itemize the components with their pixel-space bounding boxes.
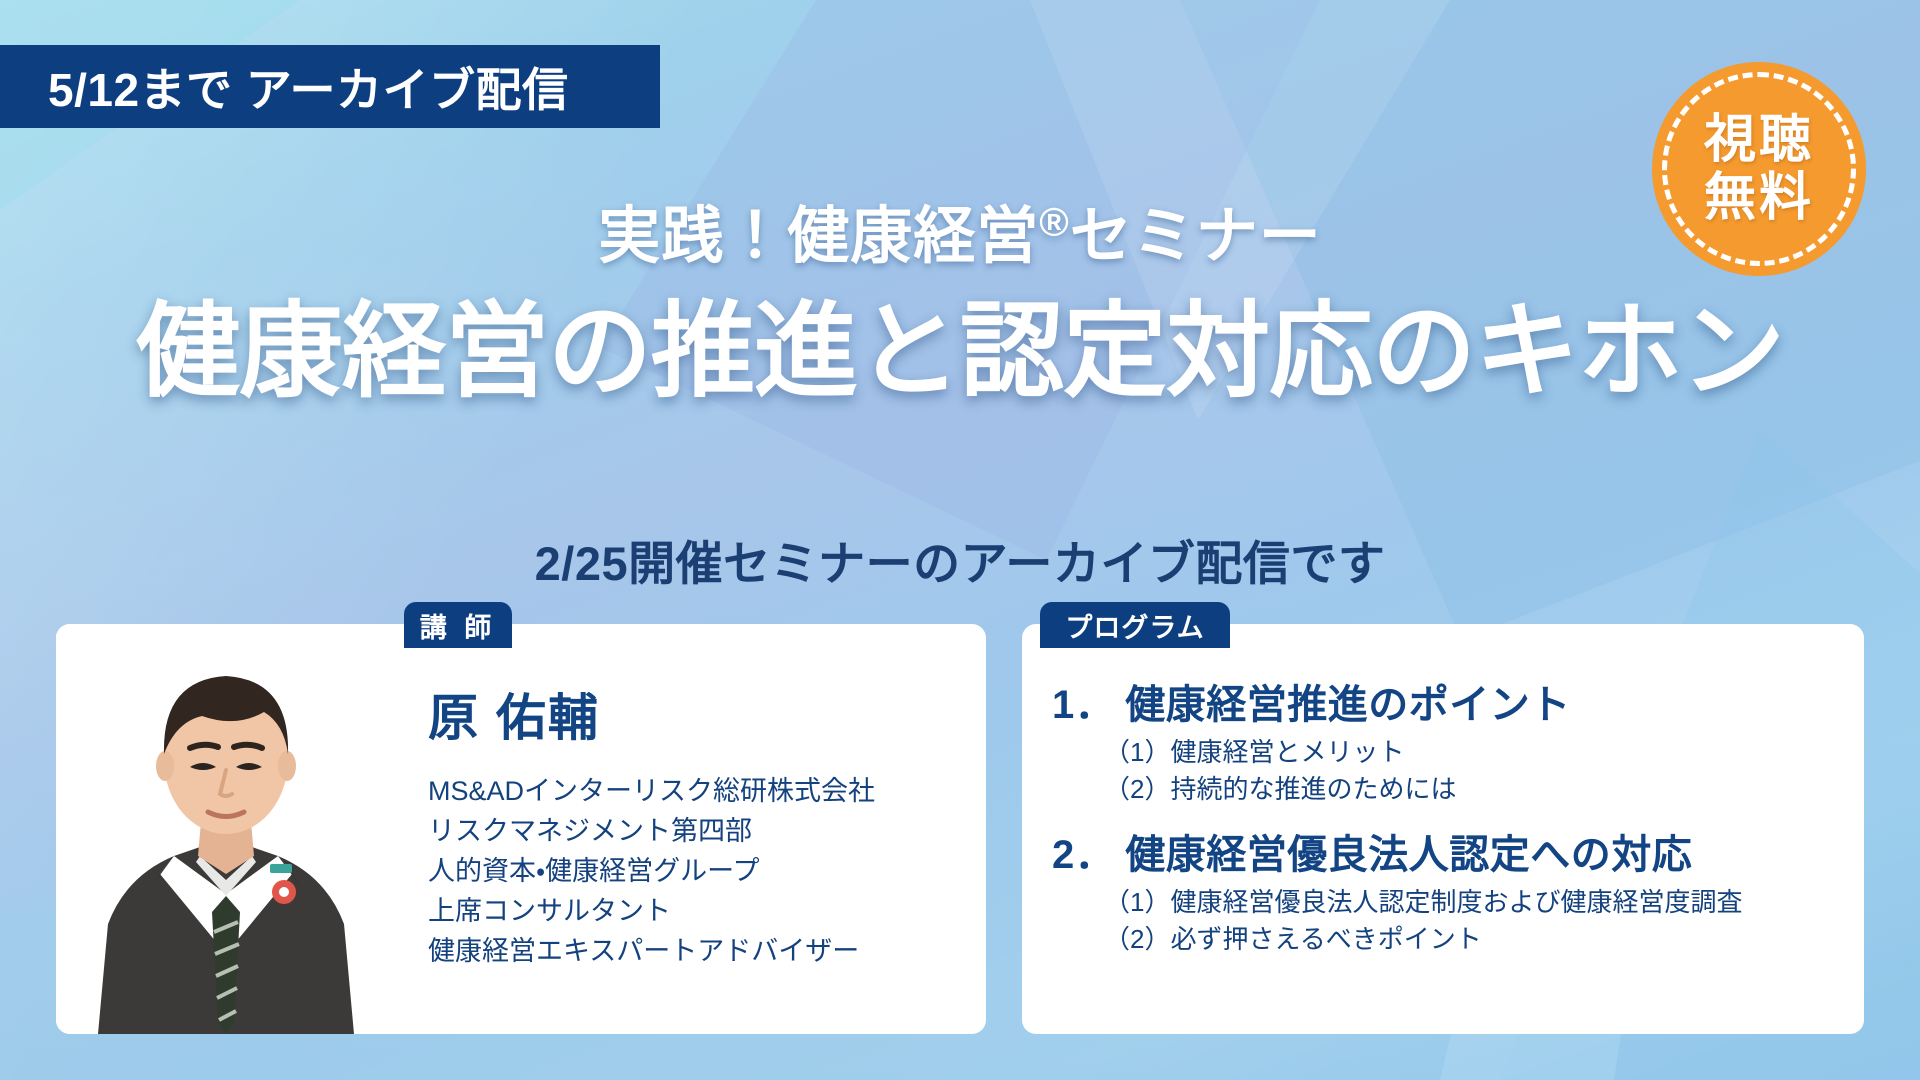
archive-ribbon: 5/12まで アーカイブ配信: [0, 45, 660, 128]
program-item-heading: 1． 健康経営推進のポイント: [1052, 672, 1844, 730]
program-item: 1． 健康経営推進のポイント （1） 健康経営とメリット （2） 持続的な推進の…: [1052, 672, 1844, 808]
program-subitem: （2） 必ず押さえるべきポイント: [1104, 921, 1844, 958]
registered-mark: ®: [1039, 200, 1069, 244]
program-list: 1． 健康経営推進のポイント （1） 健康経営とメリット （2） 持続的な推進の…: [1052, 672, 1844, 972]
program-subitem-text: 健康経営とメリット: [1170, 734, 1404, 771]
program-subitem-text: 健康経営優良法人認定制度および健康経営度調査: [1170, 884, 1742, 921]
speaker-portrait-illustration: [56, 624, 396, 1034]
program-subitem: （1） 健康経営優良法人認定制度および健康経営度調査: [1104, 884, 1844, 921]
program-subitem: （2） 持続的な推進のためには: [1104, 771, 1844, 808]
program-subitem-text: 持続的な推進のためには: [1170, 771, 1456, 808]
program-item-title: 健康経営推進のポイント: [1125, 672, 1571, 730]
subtitle-main: 実践！健康経営: [598, 202, 1039, 271]
page-title: 健康経営の推進と認定対応のキホン: [0, 266, 1920, 417]
speaker-photo: [56, 624, 396, 1034]
program-subitem: （1） 健康経営とメリット: [1104, 734, 1844, 771]
program-card: プログラム 1． 健康経営推進のポイント （1） 健康経営とメリット （2） 持…: [1022, 624, 1864, 1034]
program-item-heading: 2． 健康経営優良法人認定への対応: [1052, 822, 1844, 880]
program-subitem-mark: （1）: [1104, 884, 1170, 921]
program-subitem-text: 必ず押さえるべきポイント: [1170, 921, 1481, 958]
affiliation-line: リスクマネジメント第四部: [428, 812, 964, 852]
program-subitems: （1） 健康経営とメリット （2） 持続的な推進のためには: [1104, 734, 1844, 808]
speaker-affiliation: MS&ADインターリスク総研株式会社 リスクマネジメント第四部 人的資本・健康経…: [428, 772, 964, 972]
program-subitem-mark: （2）: [1104, 921, 1170, 958]
seminar-series-subtitle: 実践！健康経営®セミナー: [0, 185, 1920, 275]
badge-line-1: 視聴: [1704, 111, 1814, 169]
program-subitem-mark: （1）: [1104, 734, 1170, 771]
program-tab-label: プログラム: [1040, 602, 1230, 648]
subtitle-tail: セミナー: [1070, 202, 1322, 271]
program-item-number: 1．: [1052, 672, 1115, 730]
affiliation-line: 健康経営エキスパートアドバイザー: [428, 932, 964, 972]
program-item: 2． 健康経営優良法人認定への対応 （1） 健康経営優良法人認定制度および健康経…: [1052, 822, 1844, 958]
program-subitems: （1） 健康経営優良法人認定制度および健康経営度調査 （2） 必ず押さえるべきポ…: [1104, 884, 1844, 958]
affiliation-line: 人的資本・健康経営グループ: [428, 852, 964, 892]
affiliation-line: MS&ADインターリスク総研株式会社: [428, 772, 964, 812]
program-subitem-mark: （2）: [1104, 771, 1170, 808]
archive-ribbon-label: 5/12まで アーカイブ配信: [48, 54, 569, 120]
speaker-card: 講 師: [56, 624, 986, 1034]
speaker-tab-label: 講 師: [404, 602, 512, 648]
affiliation-line: 上席コンサルタント: [428, 892, 964, 932]
banner-root: 5/12まで アーカイブ配信 視聴 無料 実践！健康経営®セミナー 健康経営の推…: [0, 0, 1920, 1080]
program-item-number: 2．: [1052, 822, 1115, 880]
program-item-title: 健康経営優良法人認定への対応: [1125, 822, 1692, 880]
speaker-name: 原 佑輔: [428, 678, 964, 750]
archive-notice: 2/25開催セミナーのアーカイブ配信です: [0, 525, 1920, 594]
speaker-details: 原 佑輔 MS&ADインターリスク総研株式会社 リスクマネジメント第四部 人的資…: [428, 678, 964, 972]
